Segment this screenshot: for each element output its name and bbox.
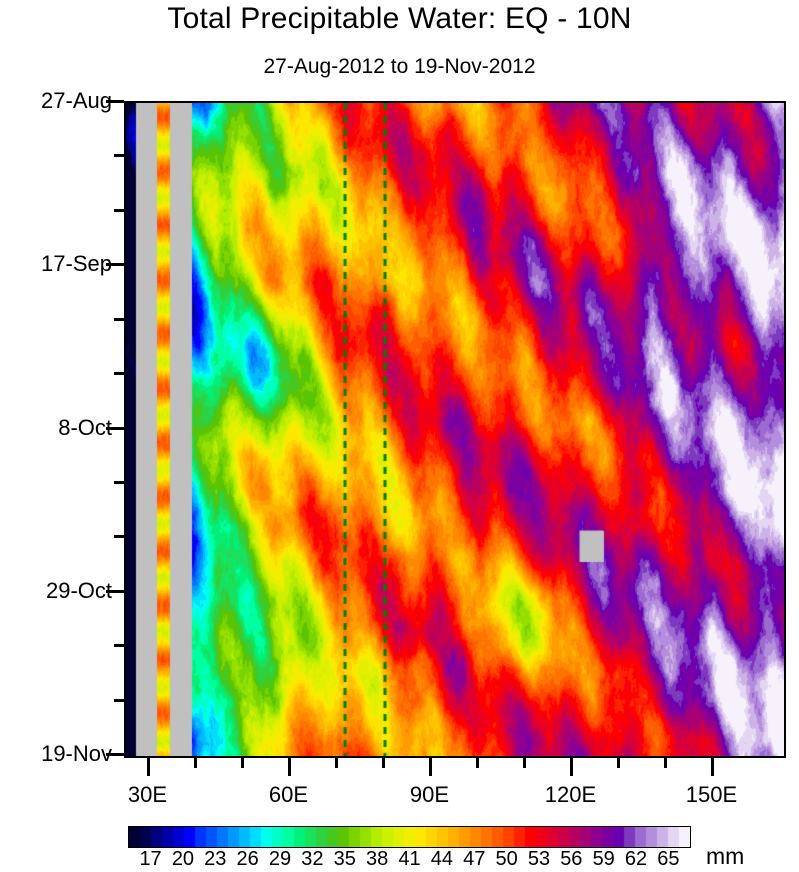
- tick-mark: [523, 758, 526, 768]
- colorbar-label-6: 35: [334, 848, 356, 871]
- tick-mark: [476, 758, 479, 768]
- x-axis-tick-label-2: 90E: [410, 782, 449, 808]
- precipitable-water-heatmap: [126, 103, 784, 756]
- y-axis-tick-label-4: 19-Nov: [41, 741, 112, 767]
- tick-mark: [114, 644, 124, 647]
- tick-mark: [114, 318, 124, 321]
- colorbar[interactable]: [128, 826, 691, 848]
- tick-mark: [106, 427, 124, 430]
- colorbar-label-3: 26: [237, 848, 259, 871]
- tick-mark: [429, 758, 432, 776]
- tick-mark: [664, 758, 667, 768]
- tick-mark: [106, 753, 124, 756]
- x-axis-tick-label-4: 150E: [686, 782, 737, 808]
- tick-mark: [711, 758, 714, 776]
- tick-mark: [114, 699, 124, 702]
- colorbar-gradient: [128, 826, 691, 848]
- colorbar-label-7: 38: [366, 848, 388, 871]
- hovmoller-plot-area[interactable]: [124, 101, 786, 758]
- y-axis-tick-label-2: 8-Oct: [58, 415, 112, 441]
- page-title: Total Precipitable Water: EQ - 10N: [0, 2, 799, 36]
- colorbar-label-8: 41: [398, 848, 420, 871]
- colorbar-label-0: 17: [139, 848, 161, 871]
- y-axis-tick-label-3: 29-Oct: [46, 578, 112, 604]
- colorbar-label-9: 44: [431, 848, 453, 871]
- tick-mark: [114, 209, 124, 212]
- tick-mark: [114, 154, 124, 157]
- x-axis-tick-label-1: 60E: [269, 782, 308, 808]
- colorbar-label-1: 20: [172, 848, 194, 871]
- tick-mark: [241, 758, 244, 768]
- y-axis-labels: 27-Aug17-Sep8-Oct29-Oct19-Nov: [0, 0, 112, 872]
- tick-mark: [288, 758, 291, 776]
- tick-mark: [382, 758, 385, 768]
- colorbar-label-12: 53: [528, 848, 550, 871]
- tick-mark: [147, 758, 150, 776]
- colorbar-label-10: 47: [463, 848, 485, 871]
- colorbar-label-2: 23: [204, 848, 226, 871]
- colorbar-label-16: 65: [657, 848, 679, 871]
- tick-mark: [194, 758, 197, 768]
- colorbar-label-14: 59: [593, 848, 615, 871]
- y-axis-tick-label-1: 17-Sep: [41, 251, 112, 277]
- y-axis-tick-label-0: 27-Aug: [41, 88, 112, 114]
- tick-mark: [114, 481, 124, 484]
- colorbar-label-5: 32: [301, 848, 323, 871]
- colorbar-label-15: 62: [625, 848, 647, 871]
- tick-mark: [114, 372, 124, 375]
- tick-mark: [106, 263, 124, 266]
- colorbar-label-4: 29: [269, 848, 291, 871]
- tick-mark: [335, 758, 338, 768]
- tick-mark: [570, 758, 573, 776]
- tick-mark: [106, 100, 124, 103]
- x-axis-tick-label-0: 30E: [128, 782, 167, 808]
- colorbar-label-13: 56: [560, 848, 582, 871]
- chart-subtitle: 27-Aug-2012 to 19-Nov-2012: [0, 55, 799, 79]
- tick-mark: [617, 758, 620, 768]
- colorbar-unit-label: mm: [706, 843, 744, 870]
- colorbar-label-11: 50: [495, 848, 517, 871]
- tick-mark: [106, 590, 124, 593]
- tick-mark: [114, 535, 124, 538]
- x-axis-tick-label-3: 120E: [545, 782, 596, 808]
